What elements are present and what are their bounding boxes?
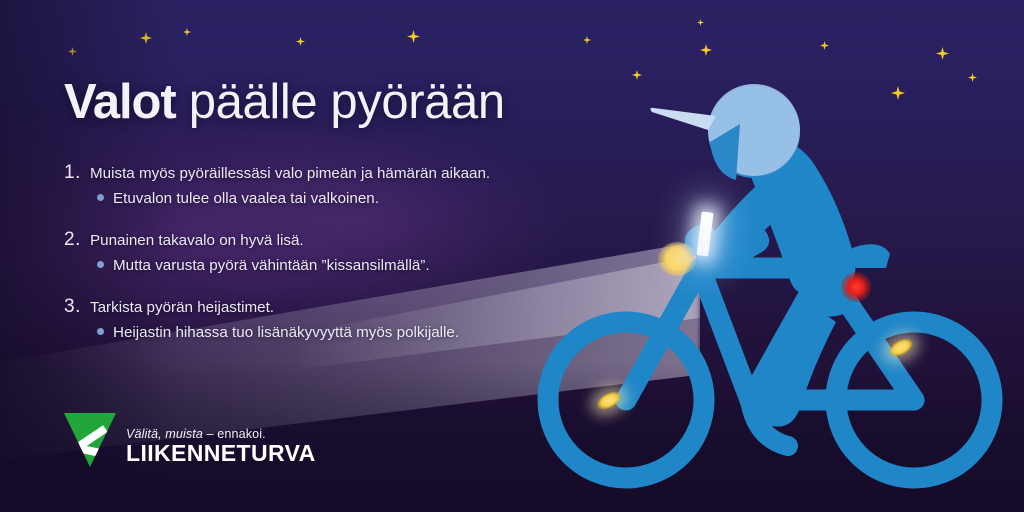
- page-title-bold: Valot: [64, 75, 176, 129]
- helmet-visor: [650, 108, 716, 130]
- page-title: Valot päälle pyörään: [64, 76, 624, 129]
- liikenneturva-logo: Välitä, muista – ennakoi. LIIKENNETURVA: [64, 411, 316, 467]
- tip-subtext: Heijastin hihassa tuo lisänäkyvyyttä myö…: [113, 323, 459, 344]
- tips-list: 1.Muista myös pyöräillessäsi valo pimeän…: [64, 162, 624, 344]
- logo-triangle-icon: [64, 411, 116, 467]
- logo-text-block: Välitä, muista – ennakoi. LIIKENNETURVA: [126, 427, 316, 467]
- tip-number: 2.: [64, 229, 90, 251]
- bullet-icon: [97, 194, 104, 201]
- tip-item: 3.Tarkista pyörän heijastimet.Heijastin …: [64, 296, 624, 344]
- bullet-icon: [97, 328, 104, 335]
- tip-text: Muista myös pyöräillessäsi valo pimeän j…: [90, 164, 490, 185]
- tip-subtext: Etuvalon tulee olla vaalea tai valkoinen…: [113, 189, 379, 210]
- logo-tagline-rest: – ennakoi.: [203, 427, 266, 441]
- fork: [626, 268, 700, 400]
- tip-item: 1.Muista myös pyöräillessäsi valo pimeän…: [64, 162, 624, 210]
- tip-item: 2.Punainen takavalo on hyvä lisä.Mutta v…: [64, 229, 624, 277]
- logo-tagline-italic: Välitä, muista: [126, 427, 203, 441]
- tip-text: Punainen takavalo on hyvä lisä.: [90, 231, 304, 252]
- rear-light-mount: [826, 253, 836, 281]
- text-content: Valot päälle pyörään 1.Muista myös pyörä…: [64, 76, 624, 363]
- tip-number: 3.: [64, 296, 90, 318]
- tip-subtext: Mutta varusta pyörä vähintään ”kissansil…: [113, 256, 430, 277]
- poster-root: Valot päälle pyörään 1.Muista myös pyörä…: [0, 0, 1024, 512]
- front-headlight-lamp: [658, 242, 696, 276]
- page-title-rest: päälle pyörään: [176, 75, 505, 129]
- rear-red-light: [841, 272, 871, 302]
- tip-number: 1.: [64, 162, 90, 184]
- logo-wordmark: LIIKENNETURVA: [126, 442, 316, 465]
- bullet-icon: [97, 261, 104, 268]
- logo-tagline: Välitä, muista – ennakoi.: [126, 427, 316, 441]
- tip-text: Tarkista pyörän heijastimet.: [90, 298, 274, 319]
